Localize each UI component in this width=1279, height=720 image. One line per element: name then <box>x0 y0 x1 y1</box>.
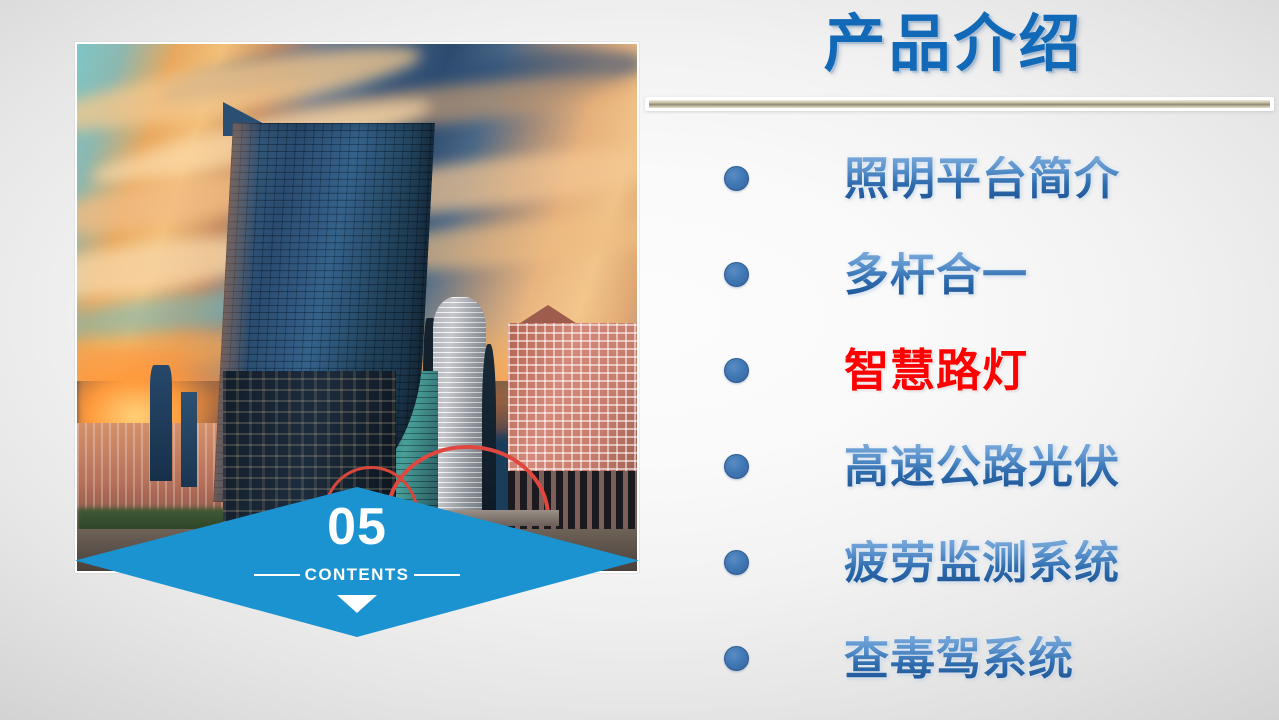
bullet-dot-icon <box>724 646 749 671</box>
list-item[interactable]: 多杆合一 <box>640 226 1279 322</box>
slide-canvas: 05 CONTENTS 产品介绍 照明平台简介 多杆合一 智慧路灯 <box>0 0 1279 720</box>
list-item[interactable]: 照明平台简介 <box>640 130 1279 226</box>
list-item-label: 多杆合一 <box>844 252 1028 297</box>
title-divider <box>645 97 1274 111</box>
list-item-active[interactable]: 智慧路灯 <box>640 322 1279 418</box>
list-item-label: 高速公路光伏 <box>844 444 1120 489</box>
building <box>181 392 198 487</box>
city-skyline-image <box>77 44 637 571</box>
list-item-label: 查毒驾系统 <box>844 636 1074 681</box>
rule-right <box>414 574 460 576</box>
agenda-list: 照明平台简介 多杆合一 智慧路灯 高速公路光伏 疲劳监测系统 查毒驾系统 <box>640 130 1279 706</box>
bullet-dot-icon <box>724 550 749 575</box>
photo-frame <box>75 42 639 573</box>
rule-left <box>254 574 300 576</box>
list-item-label: 疲劳监测系统 <box>844 540 1120 585</box>
page-title: 产品介绍 <box>640 6 1267 84</box>
list-item[interactable]: 查毒驾系统 <box>640 610 1279 706</box>
list-item[interactable]: 疲劳监测系统 <box>640 514 1279 610</box>
bridge-deck <box>335 510 559 526</box>
building <box>150 365 172 481</box>
bullet-dot-icon <box>724 262 749 287</box>
list-item-label: 智慧路灯 <box>844 348 1028 393</box>
bullet-dot-icon <box>724 358 749 383</box>
bullet-dot-icon <box>724 166 749 191</box>
title-divider-fill <box>649 100 1270 108</box>
list-item-label: 照明平台简介 <box>844 156 1120 201</box>
bullet-dot-icon <box>724 454 749 479</box>
chevron-down-icon <box>337 595 377 613</box>
content-pane: 产品介绍 照明平台简介 多杆合一 智慧路灯 高速公路光伏 <box>640 0 1279 720</box>
list-item[interactable]: 高速公路光伏 <box>640 418 1279 514</box>
ground <box>77 529 637 571</box>
